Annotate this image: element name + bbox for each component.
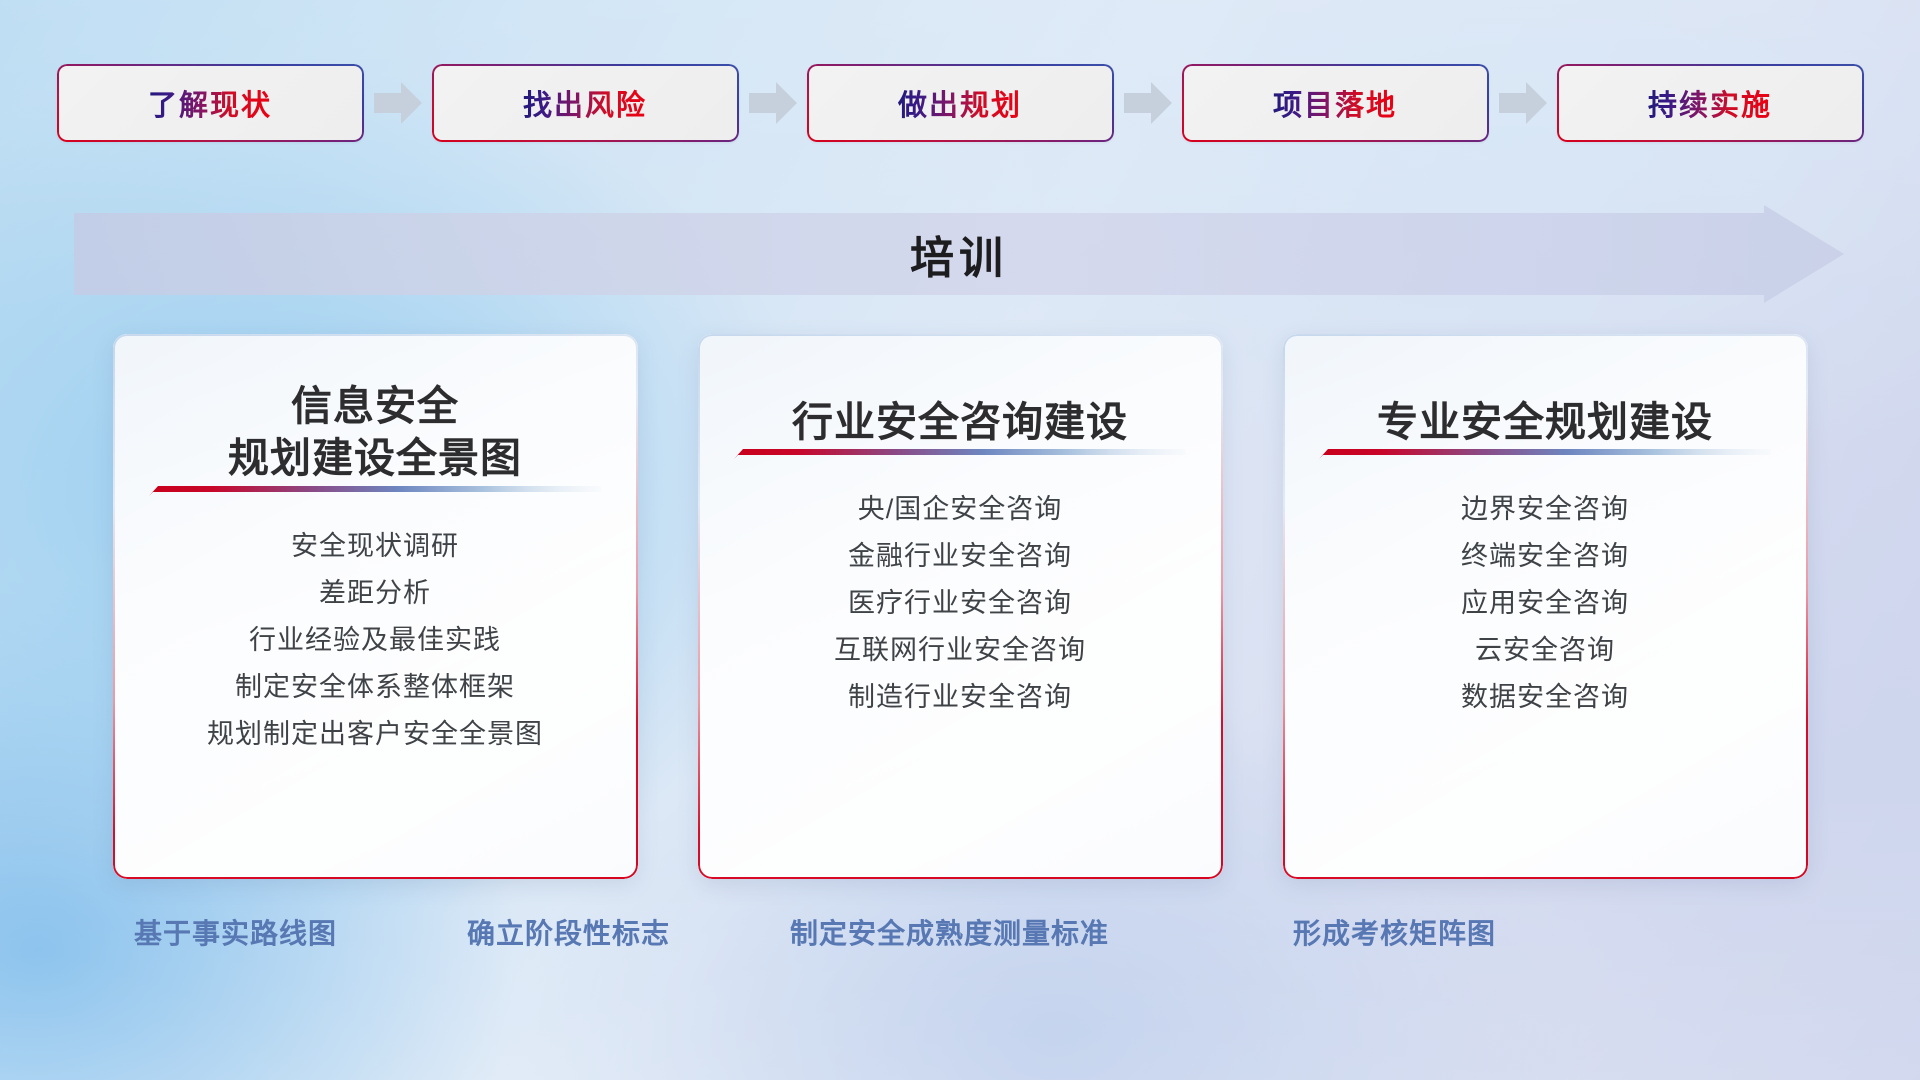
- list-item: 制造行业安全咨询: [724, 674, 1197, 721]
- card-item-list: 边界安全咨询 终端安全咨询 应用安全咨询 云安全咨询 数据安全咨询: [1309, 486, 1782, 721]
- list-item: 医疗行业安全咨询: [724, 580, 1197, 627]
- card-information-security-panorama[interactable]: 信息安全 规划建设全景图 安全现状调研 差距分析 行: [113, 334, 638, 879]
- step-label-4: 项目落地: [1273, 82, 1397, 124]
- card-item-list: 安全现状调研 差距分析 行业经验及最佳实践 制定安全体系整体框架 规划制定出客户…: [139, 523, 612, 758]
- bottom-label-roadmap: 基于事实路线图: [134, 912, 337, 952]
- right-arrow-icon: [372, 80, 424, 126]
- card-title: 信息安全 规划建设全景图: [139, 380, 612, 485]
- list-item: 互联网行业安全咨询: [724, 627, 1197, 674]
- right-arrow-icon: [747, 80, 799, 126]
- list-item: 制定安全体系整体框架: [139, 664, 612, 711]
- training-banner: 培训: [74, 205, 1844, 303]
- card-row: 信息安全 规划建设全景图 安全现状调研 差距分析 行: [0, 334, 1920, 879]
- card-item-list: 央/国企安全咨询 金融行业安全咨询 医疗行业安全咨询 互联网行业安全咨询 制造行…: [724, 486, 1197, 721]
- process-step-row: 了解现状 找出风险 做出规划 项目落地 持续实施: [0, 60, 1920, 146]
- list-item: 终端安全咨询: [1309, 533, 1782, 580]
- list-item: 行业经验及最佳实践: [139, 617, 612, 664]
- right-arrow-icon: [1497, 80, 1549, 126]
- card-divider: [1319, 448, 1771, 460]
- step-box-1[interactable]: 了解现状: [57, 64, 364, 142]
- list-item: 差距分析: [139, 570, 612, 617]
- list-item: 云安全咨询: [1309, 627, 1782, 674]
- step-box-3[interactable]: 做出规划: [807, 64, 1114, 142]
- step-label-5: 持续实施: [1648, 82, 1772, 124]
- step-label-1: 了解现状: [148, 82, 272, 124]
- list-item: 规划制定出客户安全全景图: [139, 711, 612, 758]
- bottom-outcome-labels: 基于事实路线图 确立阶段性标志 制定安全成熟度测量标准 形成考核矩阵图: [0, 912, 1920, 960]
- bottom-label-maturity-standard: 制定安全成熟度测量标准: [790, 912, 1109, 952]
- card-professional-security-planning[interactable]: 专业安全规划建设 边界安全咨询 终端安全咨询 应用安: [1283, 334, 1808, 879]
- list-item: 央/国企安全咨询: [724, 486, 1197, 533]
- step-label-2: 找出风险: [523, 82, 647, 124]
- list-item: 数据安全咨询: [1309, 674, 1782, 721]
- bottom-label-milestones: 确立阶段性标志: [467, 912, 670, 952]
- card-industry-security-consulting[interactable]: 行业安全咨询建设 央/国企安全咨询 金融行业安全咨询: [698, 334, 1223, 879]
- card-divider: [734, 448, 1186, 460]
- right-arrow-icon: [1122, 80, 1174, 126]
- list-item: 安全现状调研: [139, 523, 612, 570]
- card-title: 专业安全规划建设: [1309, 396, 1782, 448]
- list-item: 应用安全咨询: [1309, 580, 1782, 627]
- training-banner-label: 培训: [74, 222, 1844, 286]
- list-item: 边界安全咨询: [1309, 486, 1782, 533]
- list-item: 金融行业安全咨询: [724, 533, 1197, 580]
- card-title: 行业安全咨询建设: [724, 396, 1197, 448]
- step-box-5[interactable]: 持续实施: [1557, 64, 1864, 142]
- step-box-2[interactable]: 找出风险: [432, 64, 739, 142]
- bottom-label-assessment-matrix: 形成考核矩阵图: [1293, 912, 1496, 952]
- card-divider: [149, 485, 601, 497]
- step-label-3: 做出规划: [898, 82, 1022, 124]
- step-box-4[interactable]: 项目落地: [1182, 64, 1489, 142]
